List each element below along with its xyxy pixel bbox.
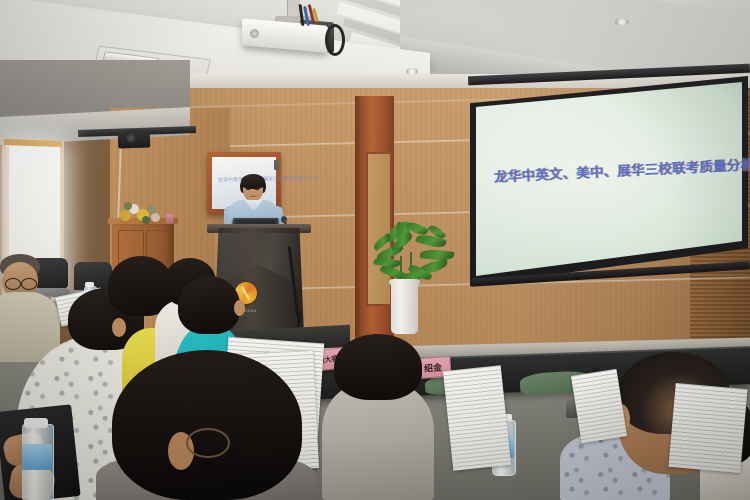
wall-monitor-button[interactable] (274, 160, 279, 170)
ceiling-downlight (615, 18, 629, 26)
eyeglasses-icon (21, 278, 37, 290)
bottle-cap[interactable] (85, 282, 94, 287)
attendee-head-hair (334, 334, 422, 400)
handout-paper[interactable] (668, 383, 747, 473)
bottle-label (22, 444, 52, 470)
wall-speaker-driver-icon (126, 133, 136, 143)
eyeglasses-icon (186, 428, 230, 458)
presenter-eye-left (246, 188, 250, 190)
projector-lens-icon (250, 29, 259, 38)
attendee-ear (234, 300, 245, 316)
projector-cable-loop (325, 24, 345, 56)
flower-arrangement (118, 200, 162, 226)
podium-logo-highlight (239, 285, 253, 301)
handout-paper[interactable] (443, 365, 511, 471)
bottle-cap[interactable] (24, 418, 48, 428)
attendee-head-hair (178, 276, 240, 334)
conference-room-photo: 龙华中英文、美中、展华三校联考质量分析会 龙华中英文、美中、展华三校联考质量分析… (0, 0, 750, 500)
name-card-text: 绍金 (424, 360, 443, 374)
eyeglasses-icon (5, 278, 21, 290)
attendee-head-hair (112, 350, 302, 500)
presenter-hair (241, 174, 265, 189)
presenter-eye-right (255, 188, 259, 190)
attendee-ear (112, 318, 126, 337)
cabinet-small-vase (166, 214, 173, 224)
plant-pot (391, 281, 418, 334)
